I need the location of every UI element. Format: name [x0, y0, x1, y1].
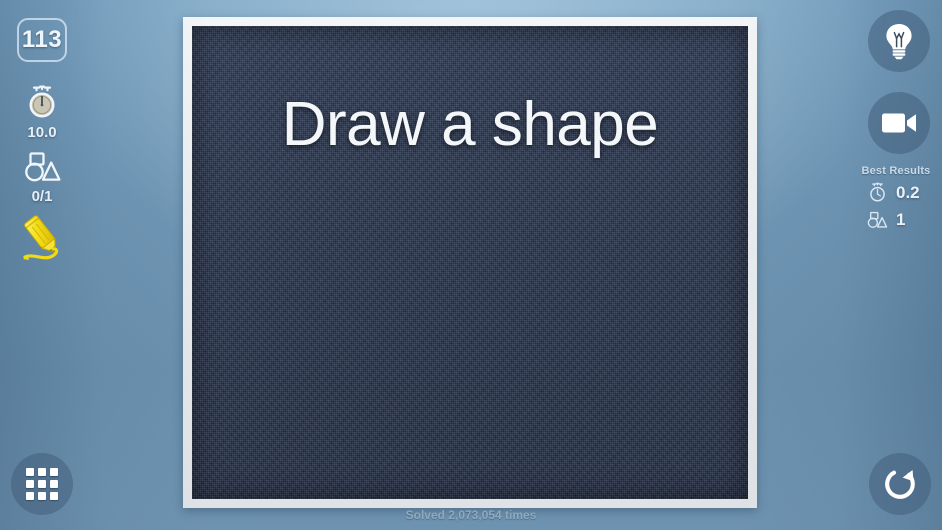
restart-button[interactable]: [869, 453, 931, 515]
left-toolbar: 113 10.: [0, 0, 84, 530]
level-badge: 113: [17, 18, 67, 62]
best-shapes-value: 1: [896, 210, 926, 230]
best-results-title: Best Results: [850, 165, 942, 177]
level-number: 113: [22, 26, 62, 54]
stopwatch-icon: [866, 182, 888, 204]
shapes-icon: [0, 148, 84, 186]
video-camera-icon: [880, 109, 918, 137]
shapes-stat: 0/1: [0, 148, 84, 205]
best-shapes-row: 1: [850, 209, 942, 231]
stopwatch-icon: [0, 84, 84, 122]
best-results-panel: Best Results 0.2: [850, 165, 942, 231]
drawing-canvas-frame: Draw a shape: [183, 17, 757, 508]
timer-stat: 10.0: [0, 84, 84, 141]
grid-menu-icon: [26, 468, 58, 500]
shapes-value: 0/1: [0, 188, 84, 205]
timer-value: 10.0: [0, 124, 84, 141]
menu-button[interactable]: [11, 453, 73, 515]
solved-count-label: Solved 2,073,054 times: [0, 508, 942, 522]
right-toolbar: Best Results 0.2: [850, 0, 942, 530]
restart-icon: [882, 466, 918, 502]
best-time-value: 0.2: [896, 183, 926, 203]
shapes-icon: [866, 209, 888, 231]
video-button[interactable]: [868, 92, 930, 154]
lightbulb-icon: [882, 22, 916, 60]
best-time-row: 0.2: [850, 182, 942, 204]
hint-button[interactable]: [868, 10, 930, 72]
prompt-text: Draw a shape: [192, 94, 748, 156]
pencil-tool-button[interactable]: [14, 212, 70, 262]
game-screen: 113 10.: [0, 0, 942, 530]
drawing-canvas[interactable]: Draw a shape: [192, 26, 748, 499]
